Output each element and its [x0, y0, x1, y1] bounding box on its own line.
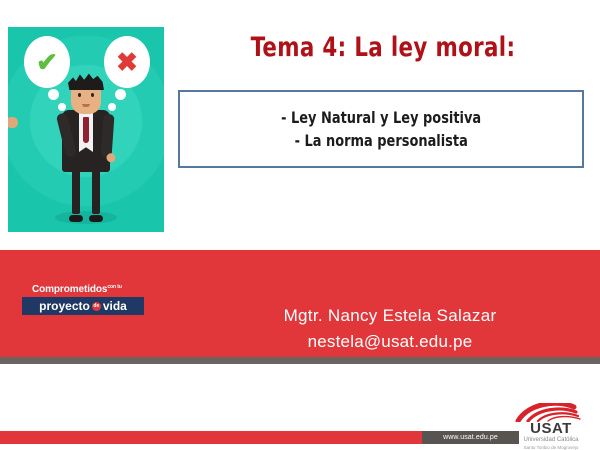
footer-bar: www.usat.edu.pe — [0, 431, 519, 444]
topic-content-box: - Ley Natural y Ley positiva - La norma … — [178, 90, 584, 168]
usat-swoosh-icon — [512, 403, 590, 422]
presentation-slide: ✔ ✖ — [0, 0, 600, 450]
check-mark-icon: ✔ — [36, 49, 58, 75]
cross-mark-icon: ✖ — [116, 49, 138, 75]
presenter-name: Mgtr. Nancy Estela Salazar — [190, 303, 590, 329]
thinking-businessman-figure — [8, 82, 164, 232]
comprometidos-logo-line1: Comprometidoscon tu — [22, 284, 144, 295]
page-title: Tema 4: La ley moral: — [203, 32, 564, 63]
presenter-block: Mgtr. Nancy Estela Salazar nestela@usat.… — [190, 303, 590, 356]
logo-dot-glyph: de — [92, 303, 101, 310]
thought-bubble-positive: ✔ — [24, 36, 70, 88]
logo-dot-icon: de — [92, 302, 101, 311]
figure-mouth — [82, 104, 90, 107]
illustration-panel: ✔ ✖ — [8, 27, 164, 232]
hand-on-chin — [8, 117, 18, 128]
usat-wordmark: USAT — [512, 421, 590, 436]
eye-right — [91, 93, 94, 97]
presenter-email[interactable]: nestela@usat.edu.pe — [190, 329, 590, 355]
proyecto-word: proyecto — [39, 299, 90, 313]
arm-left — [56, 112, 77, 157]
shoe-left — [69, 215, 83, 222]
topic-line-2: - La norma personalista — [294, 129, 467, 152]
thought-bubble-negative: ✖ — [104, 36, 150, 88]
footer-url-box[interactable]: www.usat.edu.pe — [422, 431, 519, 444]
footer-red-strip — [0, 431, 422, 444]
shoe-right — [89, 215, 103, 222]
figure-tie — [83, 117, 89, 143]
arm-right — [100, 114, 114, 159]
comprometidos-logo: Comprometidoscon tu proyecto de vida — [22, 284, 144, 315]
proyecto-vida-bar: proyecto de vida — [22, 297, 144, 315]
footer-url: www.usat.edu.pe — [443, 434, 498, 441]
comprometidos-word: Comprometidos — [32, 284, 107, 295]
figure-head — [71, 80, 101, 114]
usat-subtitle-2: Santo Toribio de Mogrovejo — [512, 445, 590, 450]
topic-line-1: - Ley Natural y Ley positiva — [281, 106, 481, 129]
banner-underline — [0, 357, 600, 364]
vida-word: vida — [103, 299, 127, 313]
hand-right — [106, 153, 116, 163]
figure-suit — [62, 110, 110, 172]
comprometidos-superscript: con tu — [107, 285, 121, 290]
usat-logo: USAT Universidad Católica Santo Toribio … — [512, 403, 590, 450]
usat-subtitle-1: Universidad Católica — [512, 437, 590, 445]
eye-left — [78, 93, 81, 97]
